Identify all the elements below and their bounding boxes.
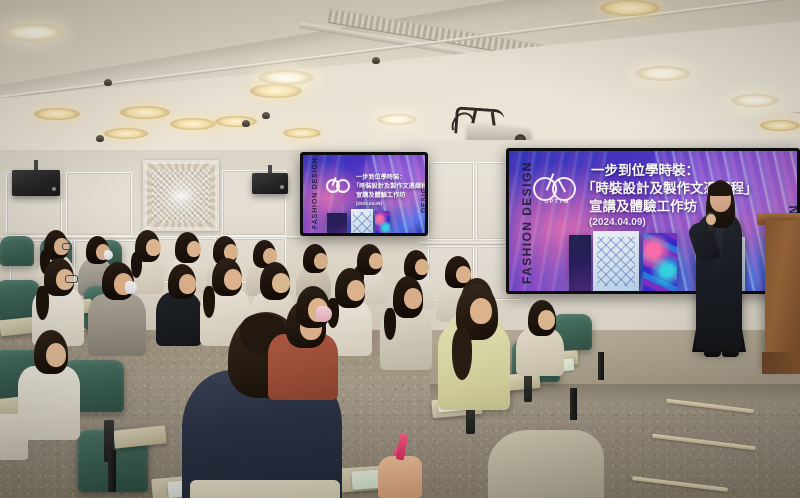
eyeglasses-icon bbox=[65, 275, 78, 283]
wall-panel bbox=[66, 172, 132, 236]
tablet-support-arm bbox=[524, 372, 532, 402]
person-head bbox=[538, 310, 555, 330]
jacket-hem bbox=[190, 480, 340, 498]
person-head bbox=[179, 274, 196, 294]
person-head bbox=[404, 288, 422, 309]
cpttm-logo: CPTTM bbox=[325, 177, 351, 197]
wall-panel bbox=[428, 162, 474, 240]
screen-date: (2024.04.09) bbox=[356, 201, 382, 206]
person-torso bbox=[18, 366, 80, 440]
face-mask-icon bbox=[316, 306, 332, 322]
fashion-image-tile bbox=[375, 211, 390, 233]
fashion-image-tile bbox=[593, 231, 639, 291]
audience-member bbox=[286, 286, 344, 364]
secondary-screen-face: FASHION DESIGN DESIGN CPTTM 一步到位學時裝： 「時裝… bbox=[303, 155, 425, 233]
seat-pedestal bbox=[598, 352, 604, 380]
person-torso bbox=[88, 294, 146, 356]
screen-title-line1: 一步到位學時裝： bbox=[591, 163, 699, 179]
downlight-icon bbox=[258, 70, 314, 85]
person-head bbox=[369, 253, 383, 269]
face-mask-icon bbox=[104, 250, 113, 260]
downlight-icon bbox=[2, 24, 64, 41]
face-mask-icon bbox=[125, 281, 137, 294]
downlight-icon bbox=[215, 116, 257, 127]
presenter-shoe bbox=[704, 348, 721, 357]
logo-text: CPTTM bbox=[531, 199, 583, 205]
presenter-shoe bbox=[722, 348, 739, 357]
auditorium-seat bbox=[0, 236, 34, 266]
person-head bbox=[187, 241, 201, 257]
audience-member bbox=[18, 330, 84, 440]
hand-holding-pen bbox=[378, 456, 422, 498]
downlight-icon bbox=[250, 84, 302, 98]
mesh-texture bbox=[597, 237, 636, 286]
speaker-indicator-icon bbox=[52, 187, 56, 191]
person-head bbox=[415, 259, 429, 275]
audience-member bbox=[438, 284, 514, 410]
audience-member bbox=[88, 262, 150, 358]
downlight-icon bbox=[283, 128, 321, 138]
screen-title-line2: 「時裝設計及製作文憑課程」 bbox=[353, 183, 425, 191]
downlight-icon bbox=[731, 94, 779, 107]
main-led-screen[interactable]: FASHION DESIGN DESIGN CPTTM 一步到位學時裝： 「時裝… bbox=[506, 148, 800, 294]
screen-title-line1: 一步到位學時裝： bbox=[356, 174, 406, 182]
downlight-icon bbox=[377, 114, 417, 125]
lecture-hall-photo: FASHION DESIGN DESIGN CPTTM 一步到位學時裝： 「時裝… bbox=[0, 0, 800, 498]
person-ponytail bbox=[384, 308, 396, 340]
downlight-icon bbox=[104, 128, 148, 139]
seat-pedestal bbox=[570, 388, 577, 420]
sprinkler-head-icon bbox=[262, 112, 270, 119]
person-head bbox=[46, 343, 66, 367]
downlight-icon bbox=[635, 66, 691, 81]
audience-member bbox=[516, 300, 568, 374]
mesh-texture bbox=[353, 212, 372, 233]
seat-pedestal bbox=[108, 450, 116, 492]
person-ponytail bbox=[452, 328, 472, 380]
screen-date: (2024.04.09) bbox=[589, 217, 646, 228]
speaker-indicator-icon bbox=[280, 185, 284, 189]
presenter-speaking bbox=[690, 178, 752, 368]
sprinkler-head-icon bbox=[104, 79, 112, 86]
person-ponytail bbox=[36, 286, 49, 320]
downlight-icon bbox=[600, 0, 660, 16]
screen-title-line3: 宣講及體驗工作坊 bbox=[589, 199, 697, 215]
logo-text: CPTTM bbox=[325, 190, 351, 194]
person-head bbox=[146, 239, 161, 256]
wall-speaker-left bbox=[12, 170, 60, 196]
sprinkler-head-icon bbox=[372, 57, 380, 64]
sprinkler-head-icon bbox=[242, 120, 250, 127]
presenter-fringe bbox=[708, 182, 732, 196]
presenter-hand bbox=[706, 214, 716, 225]
downlight-icon bbox=[120, 106, 170, 119]
downlight-icon bbox=[170, 118, 216, 130]
fashion-image-tile bbox=[351, 209, 373, 233]
person-head bbox=[347, 280, 365, 301]
screen-title-line3: 宣講及體驗工作坊 bbox=[356, 192, 406, 200]
screen-side-text-left: FASHION DESIGN bbox=[312, 157, 319, 229]
person-head bbox=[224, 269, 242, 290]
fashion-image-tile bbox=[327, 213, 347, 233]
audience-member bbox=[380, 276, 436, 368]
podium-body bbox=[765, 220, 800, 370]
person-head bbox=[314, 253, 328, 269]
secondary-led-screen[interactable]: FASHION DESIGN DESIGN CPTTM 一步到位學時裝： 「時裝… bbox=[300, 152, 428, 236]
wall-speaker-center bbox=[252, 173, 288, 194]
eyeglasses-icon bbox=[62, 243, 72, 250]
main-screen-face: FASHION DESIGN DESIGN CPTTM 一步到位學時裝： 「時裝… bbox=[509, 151, 797, 291]
cpttm-logo: CPTTM bbox=[531, 173, 583, 213]
downlight-icon bbox=[34, 108, 80, 120]
downlight-icon bbox=[760, 120, 800, 131]
wall-chair-rail bbox=[420, 242, 520, 245]
person-torso bbox=[488, 430, 604, 498]
sprinkler-head-icon bbox=[96, 135, 104, 142]
ornamental-wall-panel bbox=[143, 160, 219, 231]
podium-base bbox=[762, 352, 800, 374]
fashion-image-tile bbox=[643, 233, 677, 291]
ornament-medallion bbox=[170, 189, 192, 203]
fashion-image-tile bbox=[569, 235, 591, 291]
person-head bbox=[470, 298, 492, 324]
audience-member bbox=[488, 420, 608, 498]
